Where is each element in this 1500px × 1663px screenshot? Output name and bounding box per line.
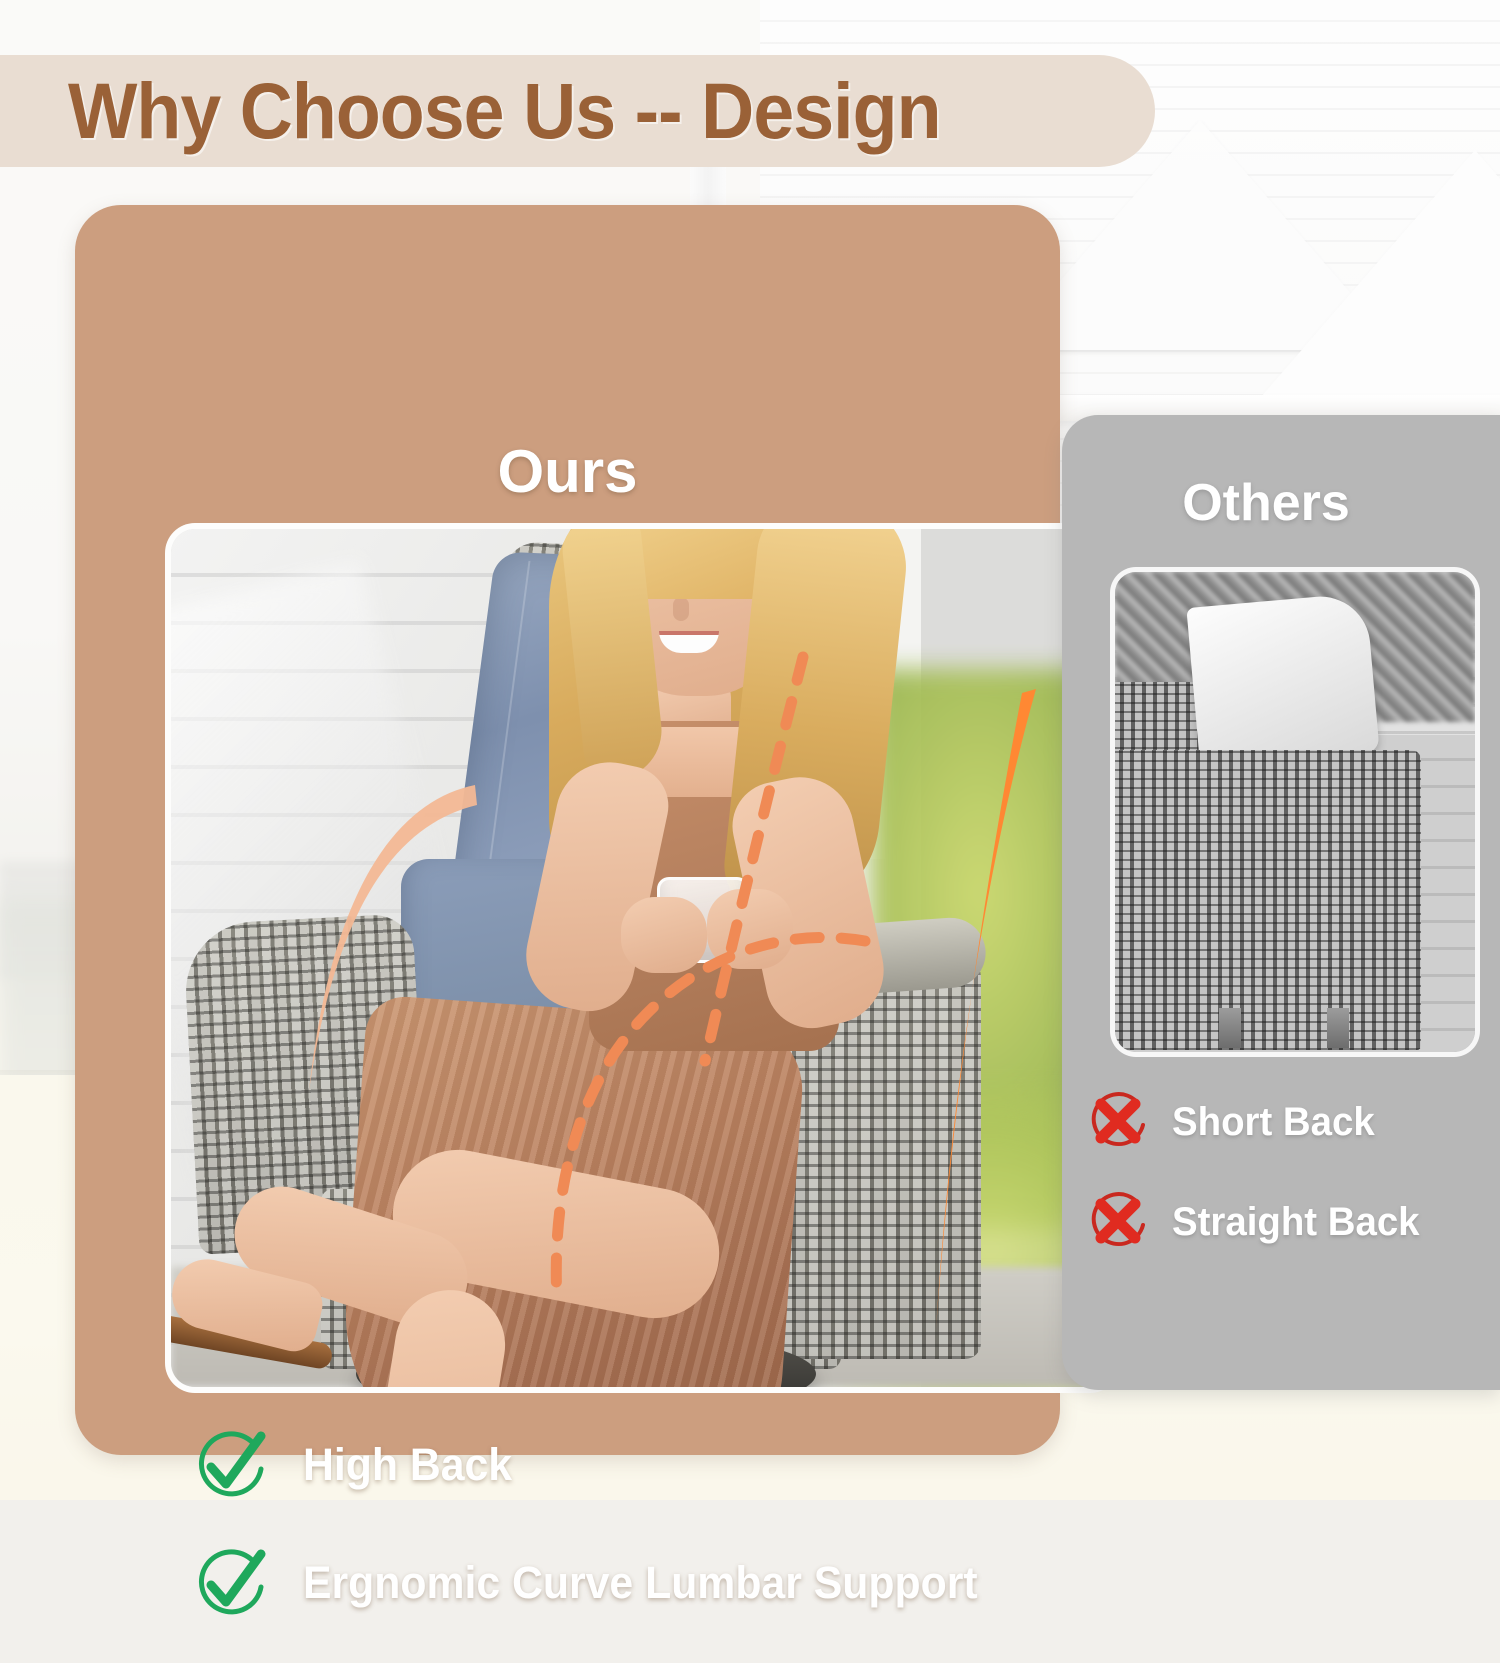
red-x-icon (1088, 1191, 1150, 1253)
list-item: High Back (193, 1427, 1123, 1503)
others-wicker-sofa (1110, 750, 1421, 1050)
ours-label: Ours (75, 437, 1060, 506)
list-item-label: High Back (303, 1439, 512, 1491)
list-item: Straight Back (1088, 1191, 1500, 1253)
list-item-label: Ergnomic Curve Lumbar Support (303, 1557, 978, 1609)
others-sofa-leg (1219, 1008, 1241, 1048)
others-panel: Others Short Back (1062, 415, 1500, 1390)
ours-feature-list: High Back Ergnomic Curve Lumbar Support (193, 1427, 1123, 1663)
model-hand (707, 889, 793, 969)
ours-panel: Ours (75, 205, 1060, 1455)
list-item: Ergnomic Curve Lumbar Support (193, 1545, 1123, 1621)
model-hand (621, 897, 707, 973)
model-nose (673, 597, 689, 621)
others-feature-list: Short Back Straight Back (1088, 1091, 1500, 1291)
red-x-icon (1088, 1091, 1150, 1153)
list-item-label: Short Back (1172, 1100, 1375, 1145)
others-sofa-leg (1327, 1008, 1349, 1048)
page-title: Why Choose Us -- Design (68, 65, 941, 157)
page-title-bar: Why Choose Us -- Design (0, 55, 1155, 167)
model-person (501, 523, 1021, 1393)
green-check-icon (193, 1427, 269, 1503)
others-product-photo (1110, 567, 1480, 1057)
ours-product-photo (165, 523, 1120, 1393)
others-white-pillow (1186, 592, 1379, 767)
green-check-icon (193, 1545, 269, 1621)
list-item: Short Back (1088, 1091, 1500, 1153)
others-label: Others (1062, 473, 1470, 533)
list-item-label: Straight Back (1172, 1200, 1420, 1245)
